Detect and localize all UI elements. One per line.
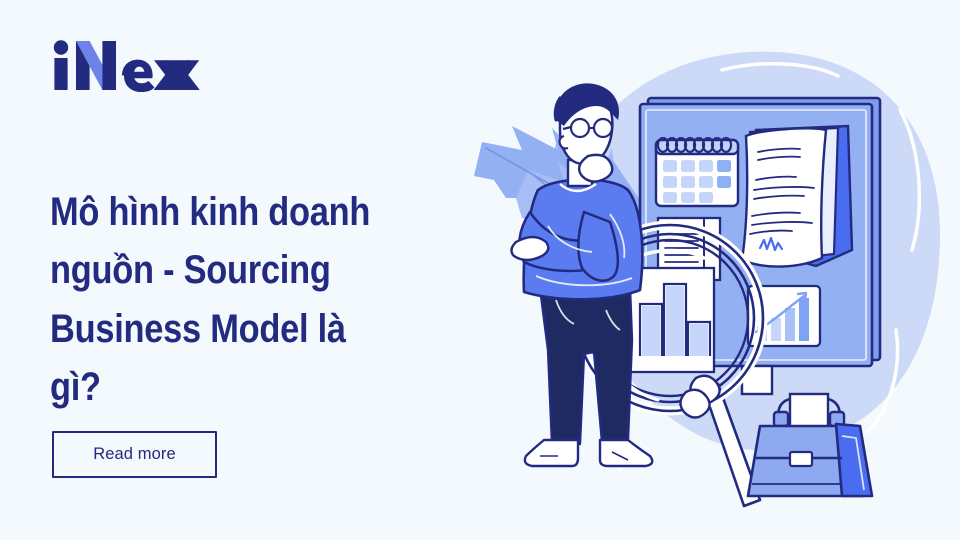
business-analysis-illustration [460,0,960,540]
illustration-svg [460,0,960,540]
logo[interactable] [50,34,200,92]
page-title: Mô hình kinh doanh nguồn - Sourcing Busi… [50,183,394,417]
read-more-button[interactable]: Read more [52,431,217,478]
contract-paper [742,126,852,267]
banner-root: Mô hình kinh doanh nguồn - Sourcing Busi… [0,0,960,540]
text-column: Mô hình kinh doanh nguồn - Sourcing Busi… [0,0,470,540]
calendar-icon [656,138,738,206]
logo-mark [50,34,200,92]
